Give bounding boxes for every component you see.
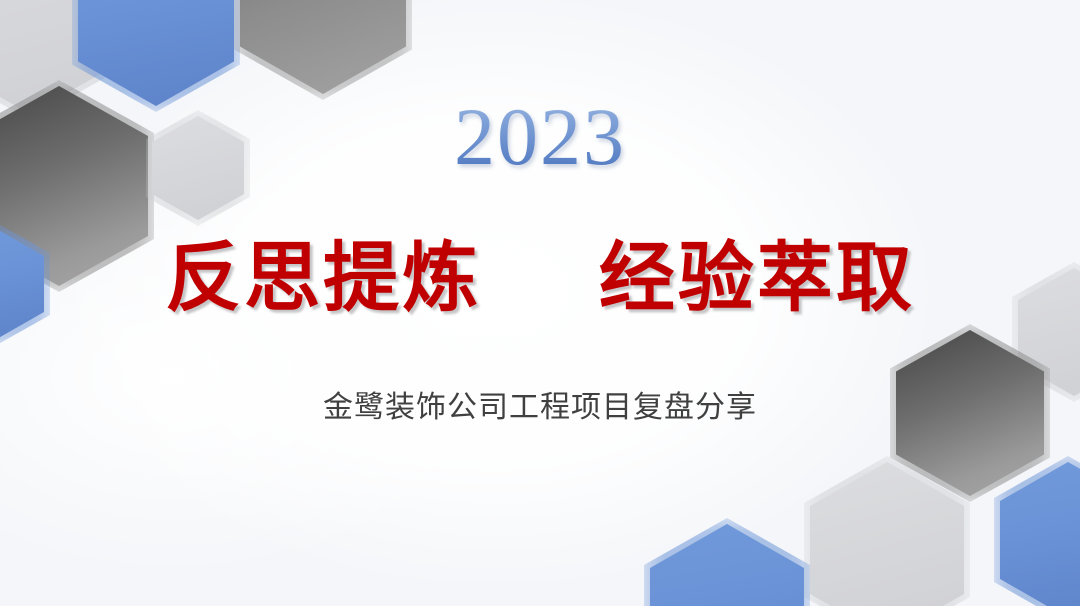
page-title: 反思提炼 经验萃取	[0, 238, 1080, 318]
title-slide: 2023 反思提炼 经验萃取 金鹭装饰公司工程项目复盘分享	[0, 0, 1080, 606]
slide-subtitle: 金鹭装饰公司工程项目复盘分享	[0, 388, 1080, 427]
year-heading: 2023	[0, 96, 1080, 178]
slide-content: 2023 反思提炼 经验萃取 金鹭装饰公司工程项目复盘分享	[0, 0, 1080, 606]
